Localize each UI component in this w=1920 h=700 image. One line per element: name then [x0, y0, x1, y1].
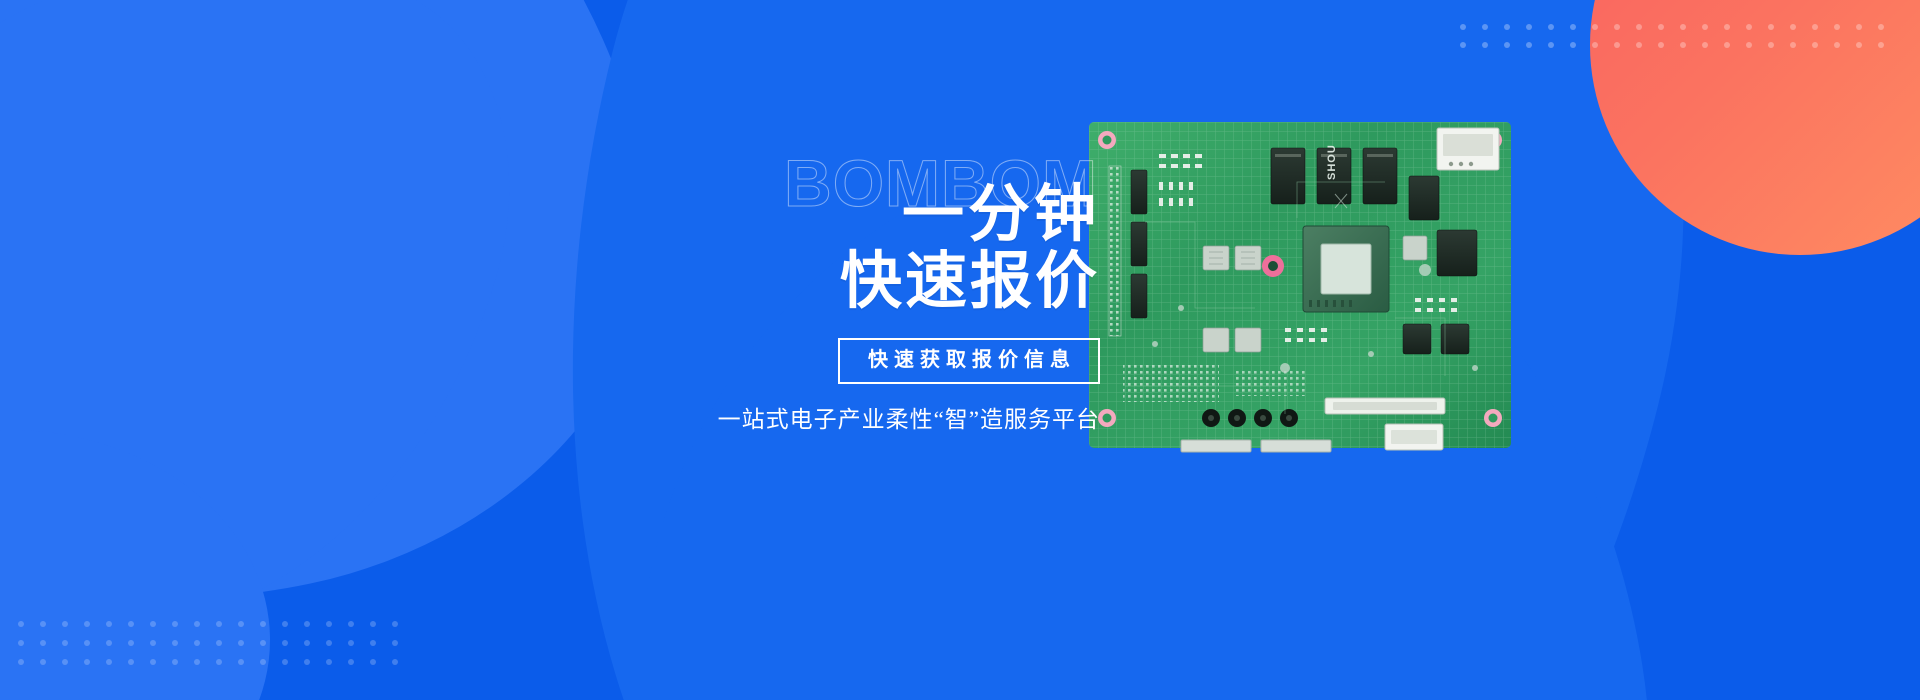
- dot-dot: [1724, 24, 1730, 30]
- dot-dot: [1504, 42, 1510, 48]
- dot-dot: [18, 621, 24, 627]
- dot-dot: [348, 621, 354, 627]
- dot-dot: [1658, 42, 1664, 48]
- dot-dot: [1460, 24, 1466, 30]
- dot-dot: [1614, 42, 1620, 48]
- dot-dot: [260, 659, 266, 665]
- dot-dot: [1570, 24, 1576, 30]
- get-quote-button[interactable]: 快速获取报价信息: [838, 338, 1100, 384]
- dot-dot: [260, 621, 266, 627]
- dot-dot: [1460, 42, 1466, 48]
- dot-dot: [392, 621, 398, 627]
- dot-dot: [1680, 24, 1686, 30]
- dot-dot: [194, 640, 200, 646]
- dot-dot: [1790, 24, 1796, 30]
- dot-dot: [1504, 24, 1510, 30]
- dot-dot: [304, 640, 310, 646]
- dot-dot: [40, 659, 46, 665]
- dot-dot: [238, 621, 244, 627]
- dot-dot: [304, 659, 310, 665]
- dot-dot: [194, 621, 200, 627]
- dot-dot: [392, 640, 398, 646]
- pcb-board-image: SHOU: [1085, 118, 1515, 458]
- dot-dot: [62, 621, 68, 627]
- dot-dot: [1768, 42, 1774, 48]
- dot-dot: [1658, 24, 1664, 30]
- dot-dot: [18, 640, 24, 646]
- dot-dot: [1482, 24, 1488, 30]
- dot-dot: [1856, 42, 1862, 48]
- dot-dot: [1702, 24, 1708, 30]
- dot-dot: [128, 640, 134, 646]
- dot-dot: [84, 659, 90, 665]
- tagline: 一站式电子产业柔性“智”造服务平台: [640, 400, 1100, 434]
- dot-dot: [216, 659, 222, 665]
- dot-dot: [1790, 42, 1796, 48]
- dot-dot: [1636, 24, 1642, 30]
- dot-dot: [172, 659, 178, 665]
- dot-dot: [304, 621, 310, 627]
- dot-dot: [1834, 24, 1840, 30]
- dot-dot: [216, 621, 222, 627]
- dot-row: [18, 640, 414, 646]
- dot-dot: [194, 659, 200, 665]
- banner-copy: BOMBOM 一分钟 快速报价 快速获取报价信息 一站式电子产业柔性“智”造服务…: [640, 150, 1100, 434]
- dot-dot: [216, 640, 222, 646]
- dot-dot: [326, 621, 332, 627]
- dot-dot: [150, 659, 156, 665]
- dot-dot: [62, 640, 68, 646]
- dot-dot: [128, 659, 134, 665]
- dot-dot: [326, 640, 332, 646]
- dot-dot: [1724, 42, 1730, 48]
- dot-dot: [172, 640, 178, 646]
- dot-dot: [40, 621, 46, 627]
- dot-dot: [260, 640, 266, 646]
- dot-dot: [1768, 24, 1774, 30]
- promo-banner: SHOU BOMBOM 一分钟 快速报价: [0, 0, 1920, 700]
- dot-dot: [392, 659, 398, 665]
- dot-dot: [1812, 24, 1818, 30]
- dot-grid-top-right: [1460, 24, 1900, 60]
- dot-dot: [1834, 42, 1840, 48]
- dot-dot: [62, 659, 68, 665]
- dot-dot: [1680, 42, 1686, 48]
- dot-dot: [1548, 24, 1554, 30]
- dot-dot: [1878, 42, 1884, 48]
- dot-dot: [370, 621, 376, 627]
- dot-dot: [238, 659, 244, 665]
- dot-dot: [282, 621, 288, 627]
- dot-dot: [1592, 42, 1598, 48]
- dot-dot: [1636, 42, 1642, 48]
- dot-dot: [1746, 24, 1752, 30]
- dot-dot: [370, 640, 376, 646]
- dot-dot: [1526, 24, 1532, 30]
- dot-dot: [1592, 24, 1598, 30]
- dot-dot: [282, 640, 288, 646]
- dot-dot: [1702, 42, 1708, 48]
- dot-dot: [348, 659, 354, 665]
- dot-dot: [128, 621, 134, 627]
- dot-dot: [1614, 24, 1620, 30]
- dot-dot: [1746, 42, 1752, 48]
- dot-dot: [1526, 42, 1532, 48]
- dot-dot: [172, 621, 178, 627]
- dot-dot: [18, 659, 24, 665]
- dot-dot: [1548, 42, 1554, 48]
- dot-grid-bottom-left: [18, 621, 414, 678]
- dot-dot: [238, 640, 244, 646]
- dot-dot: [1856, 24, 1862, 30]
- dot-row: [1460, 24, 1900, 30]
- dot-dot: [282, 659, 288, 665]
- dot-dot: [326, 659, 332, 665]
- headline-line-2: 快速报价: [640, 249, 1100, 316]
- dot-dot: [1482, 42, 1488, 48]
- dot-row: [18, 659, 414, 665]
- dot-dot: [40, 640, 46, 646]
- dot-dot: [106, 640, 112, 646]
- dot-dot: [106, 621, 112, 627]
- dot-dot: [1878, 24, 1884, 30]
- headline-line-1: 一分钟: [640, 182, 1100, 249]
- pcb-board-graphic: SHOU: [1085, 118, 1515, 458]
- dot-dot: [150, 640, 156, 646]
- dot-dot: [1812, 42, 1818, 48]
- headline: 一分钟 快速报价: [640, 182, 1100, 316]
- dot-dot: [1570, 42, 1576, 48]
- dot-row: [18, 621, 414, 627]
- dot-dot: [150, 621, 156, 627]
- dot-dot: [84, 621, 90, 627]
- dot-dot: [370, 659, 376, 665]
- dot-dot: [348, 640, 354, 646]
- dot-dot: [106, 659, 112, 665]
- svg-text:SHOU: SHOU: [1326, 144, 1338, 180]
- dot-dot: [84, 640, 90, 646]
- dot-row: [1460, 42, 1900, 48]
